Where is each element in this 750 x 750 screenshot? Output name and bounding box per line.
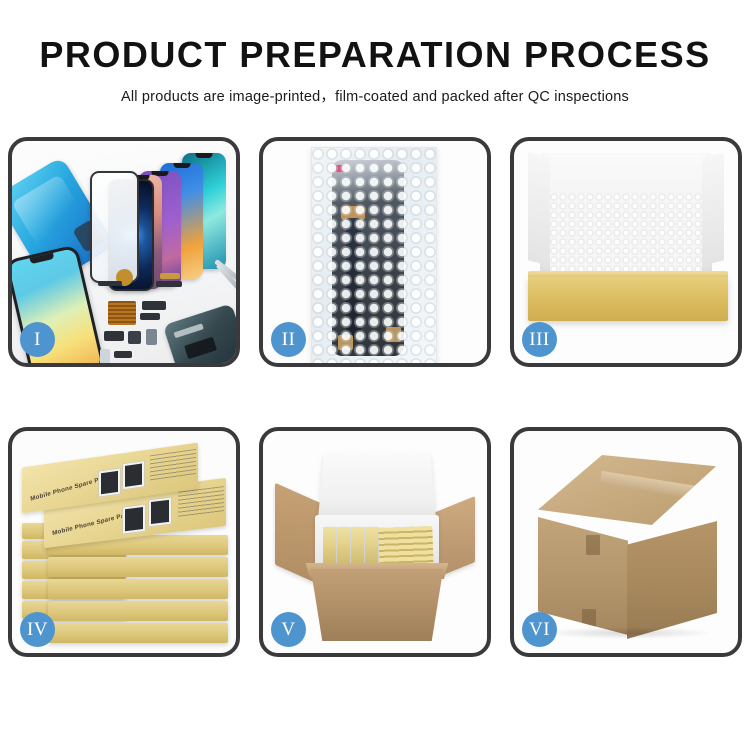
process-step-panel-2[interactable]: II — [259, 137, 491, 367]
step-badge-2: II — [271, 322, 306, 357]
stacked-box-graphic — [48, 557, 228, 577]
flex-strip-part-graphic — [98, 281, 122, 286]
spare-parts-group-graphic — [98, 267, 236, 363]
stacked-box-graphic — [48, 579, 228, 599]
carton-shadow-graphic — [540, 627, 716, 639]
carton-side-face-graphic — [627, 521, 717, 639]
yellow-box-in-case-graphic — [365, 527, 378, 567]
foam-case-lid-graphic — [318, 452, 437, 523]
box-spec-lines-graphic — [150, 449, 196, 481]
sim-tray-part-graphic — [100, 349, 110, 363]
yellow-box-in-case-graphic — [323, 527, 336, 567]
box-stack-graphic: Mobile Phone Spare Parts Mobile Phone Sp… — [22, 449, 232, 647]
stacked-box-graphic — [48, 601, 228, 621]
process-step-panel-4[interactable]: Mobile Phone Spare Parts Mobile Phone Sp… — [8, 427, 240, 657]
packing-tape-graphic — [600, 471, 730, 504]
camera-flex-part-graphic — [142, 301, 166, 310]
step-badge-3: III — [522, 322, 557, 357]
page-title: PRODUCT PREPARATION PROCESS — [0, 0, 750, 74]
antenna-flex-part-graphic — [114, 351, 132, 358]
carton-top-face-graphic — [538, 455, 716, 525]
process-step-panel-3[interactable]: III — [510, 137, 742, 367]
yellow-box-in-case-graphic — [337, 527, 350, 567]
box-artwork-image — [148, 496, 172, 527]
box-spec-lines-graphic — [178, 486, 224, 518]
notch-graphic — [30, 253, 55, 264]
carton-tab-graphic — [582, 609, 596, 627]
step-badge-6: VI — [522, 612, 557, 647]
yellow-box-in-case-graphic — [351, 527, 364, 567]
bubble-texture-graphic — [312, 148, 436, 363]
bubble-wrap-bag-graphic — [311, 147, 437, 363]
box-artwork-image — [122, 460, 145, 490]
taptic-part-graphic — [128, 331, 141, 344]
box-artwork-image — [98, 467, 121, 497]
process-step-panel-5[interactable]: V — [259, 427, 491, 657]
gold-connector-part-graphic — [160, 273, 180, 279]
notch-graphic — [173, 163, 190, 168]
carton-body-graphic — [305, 569, 449, 641]
product-preparation-infographic: PRODUCT PREPARATION PROCESS All products… — [0, 0, 750, 750]
process-step-grid: I II — [8, 137, 742, 687]
process-step-panel-1[interactable]: I — [8, 137, 240, 367]
yellow-kraft-box-base-graphic — [528, 277, 728, 321]
foam-sheet-graphic — [550, 193, 702, 281]
sensor-part-graphic — [140, 313, 160, 320]
metal-bracket-part-graphic — [146, 329, 157, 345]
stacked-box-graphic — [48, 623, 228, 643]
vibrator-part-graphic — [104, 331, 124, 341]
button-flex-part-graphic — [156, 281, 182, 287]
header: PRODUCT PREPARATION PROCESS All products… — [0, 0, 750, 106]
speaker-mesh-part-graphic — [108, 301, 136, 325]
notch-graphic — [196, 153, 213, 158]
page-subtitle: All products are image-printed，film-coat… — [0, 74, 750, 106]
process-step-panel-6[interactable]: VI — [510, 427, 742, 657]
step-badge-1: I — [20, 322, 55, 357]
step-badge-5: V — [271, 612, 306, 647]
phone-chassis-graphic — [163, 303, 236, 363]
box-artwork-image — [122, 504, 146, 535]
carton-tab-graphic — [586, 535, 600, 555]
step-badge-4: IV — [20, 612, 55, 647]
